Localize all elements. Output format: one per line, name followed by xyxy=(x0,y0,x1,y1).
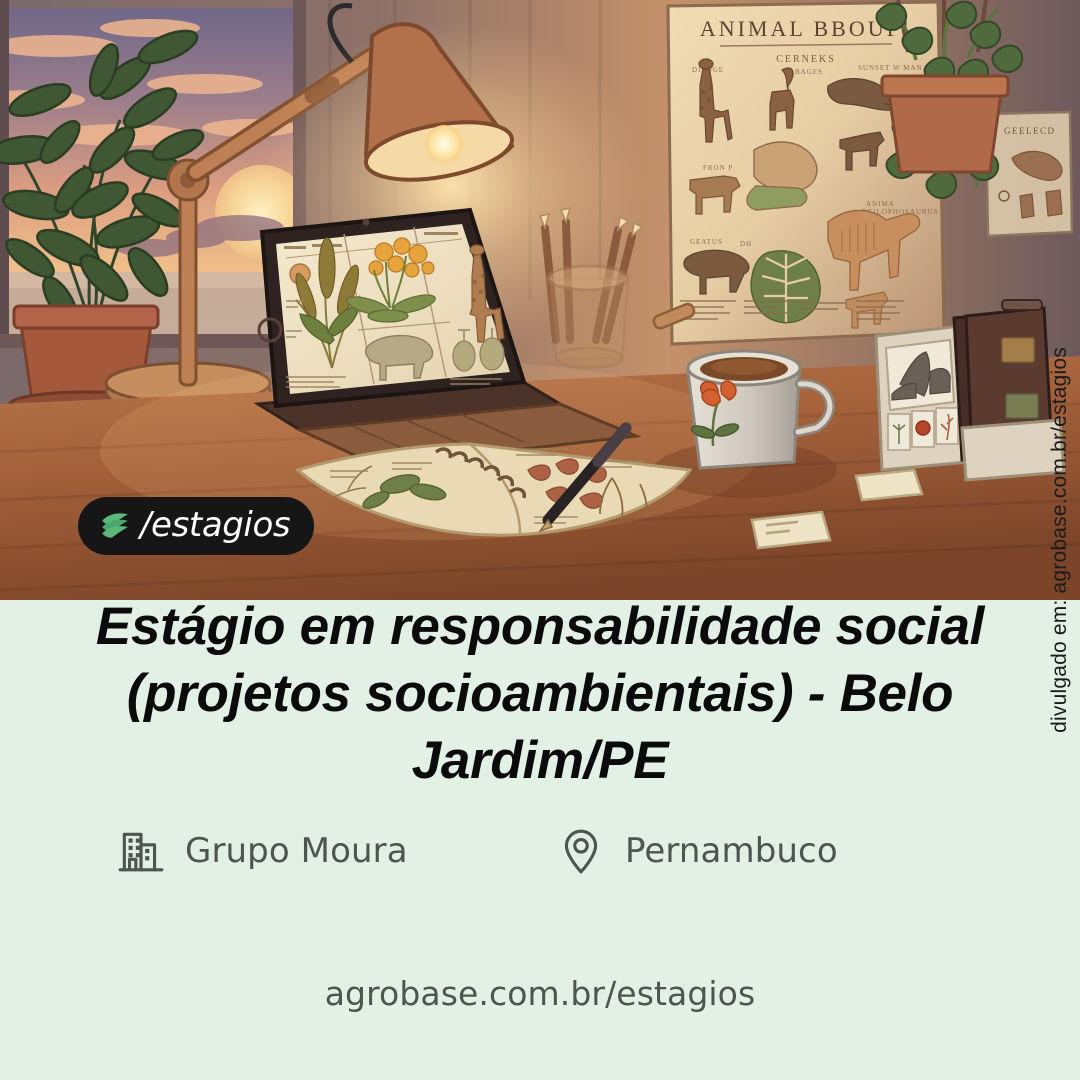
job-location: Pernambuco xyxy=(556,826,838,876)
job-post-card: ANIMAL BBOUF! CERNEKS DJFOGE BAGES SUNSE… xyxy=(0,0,1080,1080)
page-title: Estágio em responsabilidade social (proj… xyxy=(60,594,1020,794)
stacked-leaves-logo-icon xyxy=(98,509,132,543)
job-location-label: Pernambuco xyxy=(625,831,838,871)
badge-label: /estagios xyxy=(140,508,290,542)
building-icon xyxy=(116,826,166,876)
job-company-label: Grupo Moura xyxy=(185,831,408,871)
footer-url[interactable]: agrobase.com.br/estagios xyxy=(0,974,1080,1013)
map-pin-icon xyxy=(556,826,606,876)
job-company: Grupo Moura xyxy=(116,826,556,876)
estagios-badge[interactable]: /estagios xyxy=(78,497,314,555)
job-meta-row: Grupo Moura Pernambuco xyxy=(0,826,1080,876)
